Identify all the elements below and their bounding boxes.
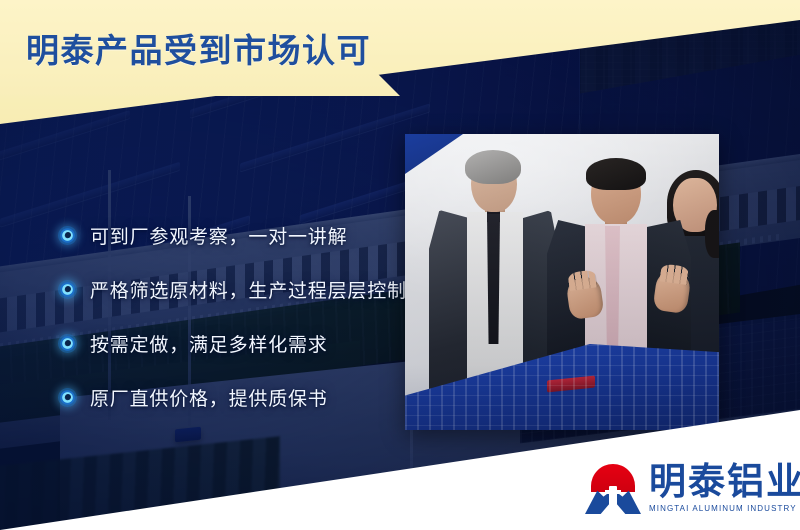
mountain-center-bar	[605, 490, 621, 494]
target-dot-icon	[58, 334, 77, 353]
list-item-label: 按需定做，满足多样化需求	[90, 330, 328, 357]
target-dot-icon	[58, 388, 77, 407]
photo-tint	[405, 134, 719, 430]
list-item: 原厂直供价格，提供质保书	[58, 370, 418, 424]
page-title: 明泰产品受到市场认可	[26, 24, 371, 72]
list-item-label: 严格筛选原材料，生产过程层层控制	[90, 276, 407, 303]
company-logo: 明泰铝业 MINGTAI ALUMINUM INDUSTRY CO., LTD	[585, 462, 800, 514]
list-item-label: 可到厂参观考察，一对一讲解	[90, 222, 347, 249]
company-name-en: MINGTAI ALUMINUM INDUSTRY CO., LTD	[649, 503, 800, 514]
list-item-label: 原厂直供价格，提供质保书	[90, 384, 328, 411]
target-dot-icon	[58, 226, 77, 245]
business-people-discussion-photo	[405, 134, 719, 430]
banner-image: 明泰产品受到市场认可 可到厂参观考察，一对一讲解 严格筛选原材料，生产过程层层控…	[0, 0, 800, 530]
list-item: 可到厂参观考察，一对一讲解	[58, 208, 418, 262]
list-item: 按需定做，满足多样化需求	[58, 316, 418, 370]
company-name-cn: 明泰铝业	[649, 462, 800, 502]
list-item: 严格筛选原材料，生产过程层层控制	[58, 262, 418, 316]
mingtai-sun-mountain-logo-icon	[585, 464, 641, 514]
target-dot-icon	[58, 280, 77, 299]
feature-list: 可到厂参观考察，一对一讲解 严格筛选原材料，生产过程层层控制 按需定做，满足多样…	[58, 208, 418, 424]
